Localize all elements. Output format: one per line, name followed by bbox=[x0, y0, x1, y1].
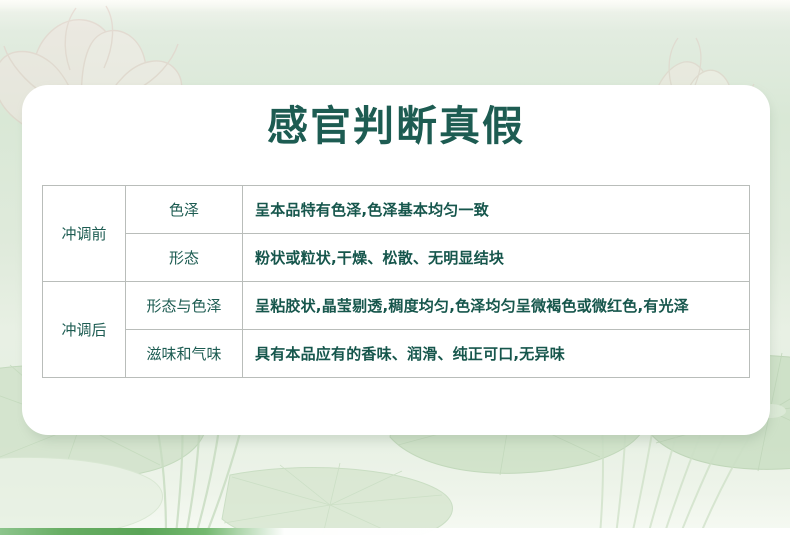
table-cell-attribute: 形态 bbox=[126, 234, 243, 282]
table-row: 滋味和气味 具有本品应有的香味、润滑、纯正可口,无异味 bbox=[43, 330, 750, 378]
content-card: 感官判断真假 冲调前 色泽 呈本品特有色泽,色泽基本均匀一致 形态 粉状或粒状,… bbox=[22, 85, 770, 435]
table-body: 冲调前 色泽 呈本品特有色泽,色泽基本均匀一致 形态 粉状或粒状,干燥、松散、无… bbox=[43, 186, 750, 378]
table-cell-description: 粉状或粒状,干燥、松散、无明显结块 bbox=[243, 234, 750, 282]
table-row: 冲调后 形态与色泽 呈粘胶状,晶莹剔透,稠度均匀,色泽均匀呈微褐色或微红色,有光… bbox=[43, 282, 750, 330]
table-cell-attribute: 滋味和气味 bbox=[126, 330, 243, 378]
table-row: 冲调前 色泽 呈本品特有色泽,色泽基本均匀一致 bbox=[43, 186, 750, 234]
table-cell-attribute: 形态与色泽 bbox=[126, 282, 243, 330]
table-container: 冲调前 色泽 呈本品特有色泽,色泽基本均匀一致 形态 粉状或粒状,干燥、松散、无… bbox=[42, 185, 750, 378]
table-cell-group: 冲调后 bbox=[43, 282, 126, 378]
table-cell-description: 呈粘胶状,晶莹剔透,稠度均匀,色泽均匀呈微褐色或微红色,有光泽 bbox=[243, 282, 750, 330]
table-cell-description: 呈本品特有色泽,色泽基本均匀一致 bbox=[243, 186, 750, 234]
table-cell-description: 具有本品应有的香味、润滑、纯正可口,无异味 bbox=[243, 330, 750, 378]
table-cell-group: 冲调前 bbox=[43, 186, 126, 282]
sensory-judgement-table: 冲调前 色泽 呈本品特有色泽,色泽基本均匀一致 形态 粉状或粒状,干燥、松散、无… bbox=[42, 185, 750, 378]
table-cell-attribute: 色泽 bbox=[126, 186, 243, 234]
bottom-accent-bar bbox=[0, 528, 790, 535]
page-canvas: 感官判断真假 冲调前 色泽 呈本品特有色泽,色泽基本均匀一致 形态 粉状或粒状,… bbox=[0, 0, 790, 535]
table-row: 形态 粉状或粒状,干燥、松散、无明显结块 bbox=[43, 234, 750, 282]
page-title: 感官判断真假 bbox=[22, 103, 770, 150]
